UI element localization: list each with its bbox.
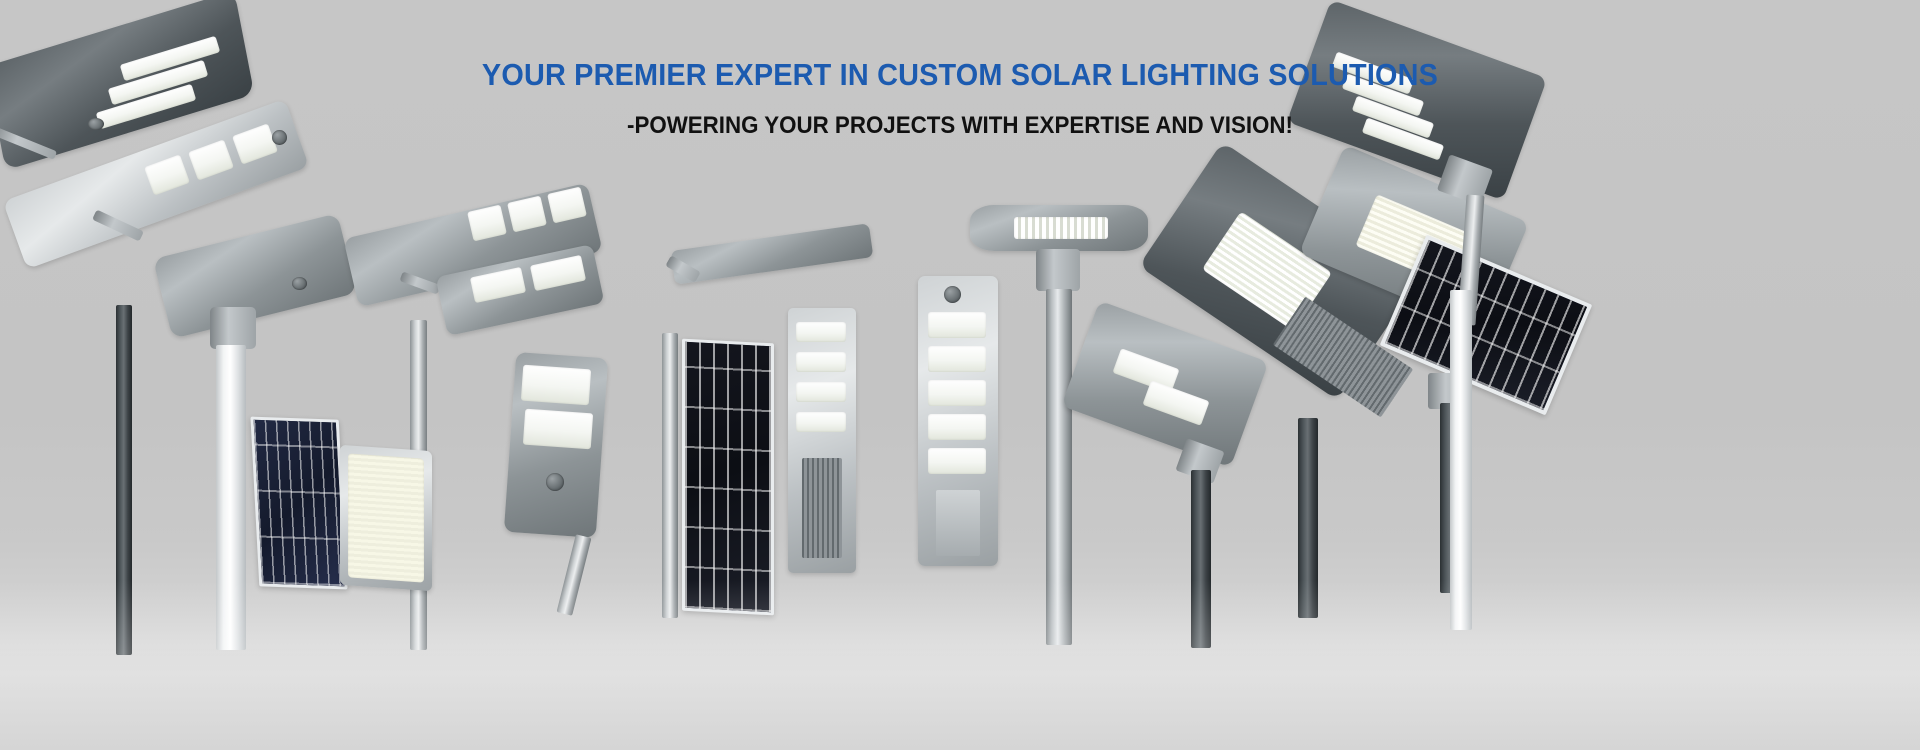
mounting-bracket [210,307,256,349]
motion-sensor [292,277,307,290]
banner-text-block: YOUR PREMIER EXPERT IN CUSTOM SOLAR LIGH… [0,58,1920,139]
page-title: YOUR PREMIER EXPERT IN CUSTOM SOLAR LIGH… [67,58,1853,92]
solar-panel [250,417,347,590]
led-module [796,382,846,402]
led-module [796,412,846,432]
product-compact-solar-street-light-with-sensor [500,355,640,625]
light-pole [116,305,132,655]
mounting-pole [557,534,592,615]
light-pole [1450,290,1472,630]
light-pole [662,333,678,618]
led-module [1014,217,1108,239]
solar-lighting-hero-banner: YOUR PREMIER EXPERT IN CUSTOM SOLAR LIGH… [0,0,1920,750]
solar-panel [682,339,774,616]
light-pole [1046,289,1072,645]
product-integrated-light-rear-housing-panel [788,308,868,588]
heat-sink-fins [802,458,842,558]
solar-cell-grid [685,342,771,613]
led-panel [348,453,424,582]
lamp-housing [671,223,874,285]
led-module [796,352,846,372]
product-monocrystalline-solar-panel-upright [672,333,787,623]
product-led-flood-light-white [340,448,460,628]
led-module [523,409,593,450]
page-subtitle: -POWERING YOUR PROJECTS WITH EXPERTISE A… [67,113,1853,139]
light-pole [216,345,246,650]
motion-sensor [546,473,564,491]
product-solar-street-light-far-right [1400,230,1640,630]
led-module [521,365,591,406]
solar-cell-grid [254,420,345,587]
motion-sensor [944,286,961,303]
pole-collar [1036,249,1080,291]
led-module [796,322,846,342]
